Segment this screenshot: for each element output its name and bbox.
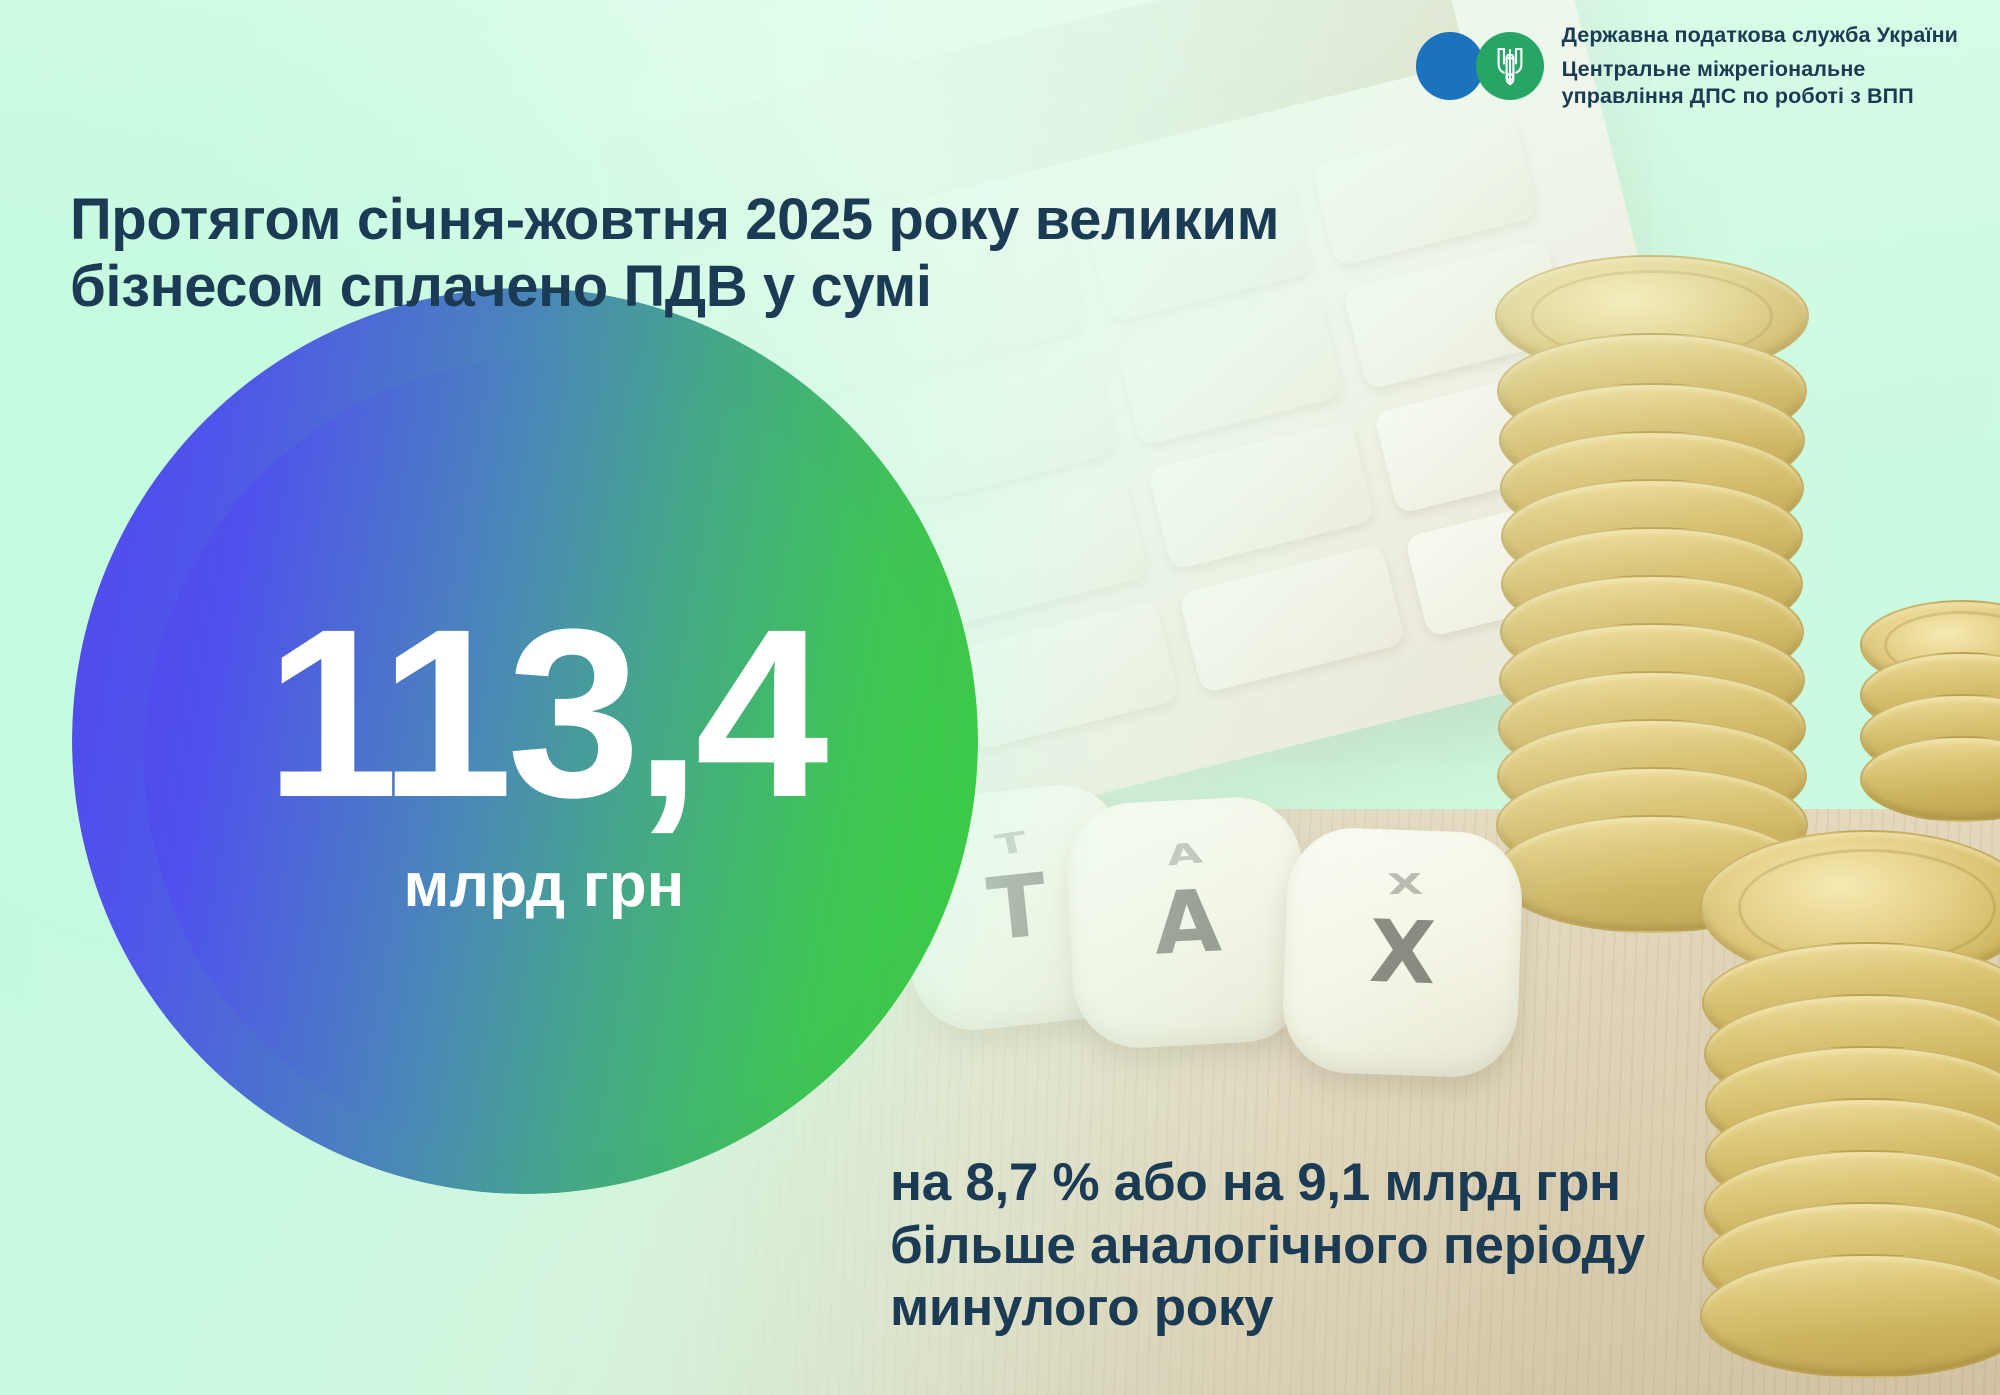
logo-line-2: Центральне міжрегіональне <box>1562 56 1958 83</box>
headline-line-2: бізнесом сплачено ПДВ у сумі <box>70 253 1530 320</box>
footnote: на 8,7 % або на 9,1 млрд грн більше анал… <box>890 1152 1910 1340</box>
circle-inner-disc: 113,4 млрд грн <box>144 358 944 1158</box>
highlight-value: 113,4 <box>265 603 822 824</box>
footnote-line-3: минулого року <box>890 1277 1910 1340</box>
logo-text: Державна податкова служба України Центра… <box>1562 22 1958 110</box>
footnote-line-1: на 8,7 % або на 9,1 млрд грн <box>890 1152 1910 1215</box>
headline-line-1: Протягом січня-жовтня 2025 року великим <box>70 186 1530 253</box>
infographic-poster: T T A A X X <box>0 0 2000 1395</box>
organisation-logo: Державна податкова служба України Центра… <box>1416 22 1958 110</box>
logo-marks <box>1416 32 1544 100</box>
headline: Протягом січня-жовтня 2025 року великим … <box>70 186 1530 321</box>
logo-line-1: Державна податкова служба України <box>1562 22 1958 49</box>
trident-icon <box>1476 32 1544 100</box>
blue-circle-icon <box>1416 32 1484 100</box>
highlight-unit: млрд грн <box>404 850 685 921</box>
logo-line-3: управління ДПС по роботі з ВПП <box>1562 83 1958 110</box>
footnote-line-2: більше аналогічного періоду <box>890 1215 1910 1278</box>
highlight-circle: 113,4 млрд грн <box>72 288 978 1194</box>
